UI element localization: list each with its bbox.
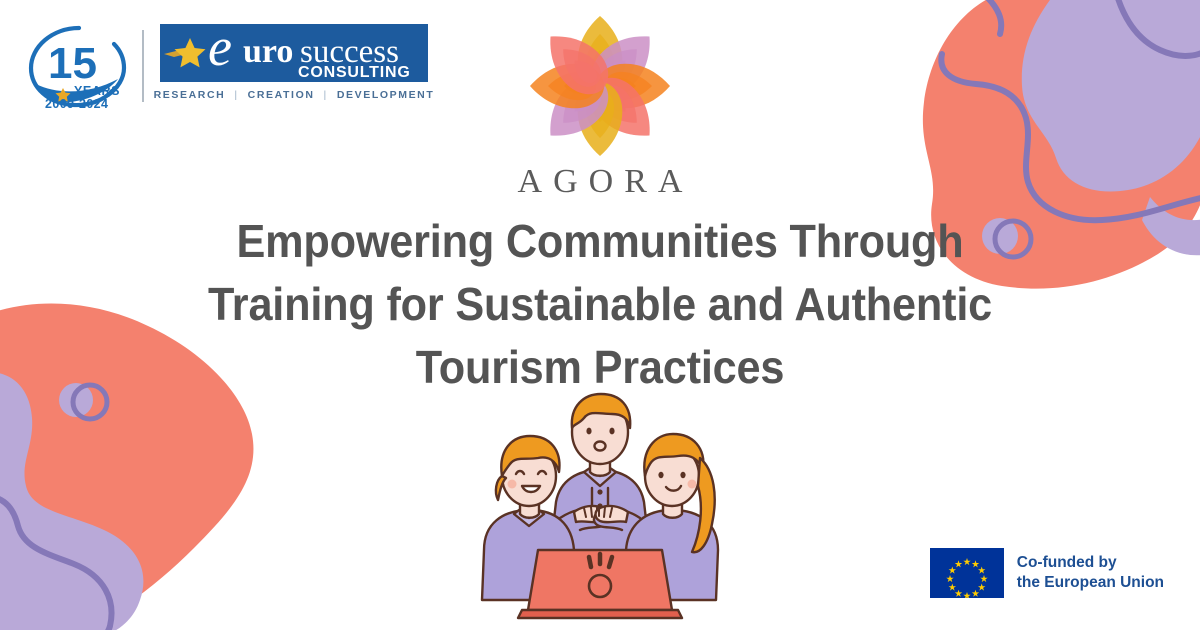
blob-lavender-shape bbox=[0, 372, 143, 630]
anniversary-logo: 15 YEARS 2009-2024 bbox=[18, 22, 136, 110]
decor-wavy-line bbox=[0, 496, 112, 630]
project-headline: Empowering Communities Through Training … bbox=[160, 210, 1040, 399]
eu-badge-text: Co-funded by the European Union bbox=[1017, 553, 1164, 594]
laptop-logo-stroke-3 bbox=[609, 557, 612, 567]
eu-badge-line-2: the European Union bbox=[1017, 573, 1164, 593]
tagline-development: DEVELOPMENT bbox=[337, 89, 435, 101]
eu-badge-line-1: Co-funded by bbox=[1017, 553, 1164, 573]
decor-line-curve bbox=[1116, 0, 1200, 56]
laptop bbox=[518, 550, 682, 618]
logo-subtitle: CONSULTING bbox=[298, 64, 411, 81]
decor-circle-filled bbox=[59, 383, 93, 417]
logo-script-e: e bbox=[208, 24, 232, 77]
tagline-creation: CREATION bbox=[248, 89, 315, 101]
headline-line-2: Training for Sustainable and Authentic bbox=[186, 273, 1013, 336]
anniversary-period: 2009-2024 bbox=[45, 97, 108, 110]
decor-circle-outline bbox=[73, 385, 107, 419]
anniversary-years-label: YEARS bbox=[74, 84, 120, 98]
logo-divider bbox=[142, 30, 144, 102]
tagline-separator-2: | bbox=[324, 89, 328, 101]
tagline-separator-1: | bbox=[234, 89, 238, 101]
co-funded-by-eu-badge: Co-funded by the European Union bbox=[930, 548, 1164, 598]
laptop-logo-stroke-1 bbox=[589, 557, 591, 567]
tagline-research: RESEARCH bbox=[154, 89, 226, 101]
agora-flower-mandala-logo bbox=[510, 14, 690, 164]
eurosuccess-logo: e uro success CONSULTING RESEARCH | CREA… bbox=[160, 24, 428, 108]
eurosuccess-blue-box: e uro success CONSULTING bbox=[160, 24, 428, 82]
banner-canvas: 15 YEARS 2009-2024 e bbox=[0, 0, 1200, 630]
decor-line-short bbox=[986, 0, 1001, 34]
eurosuccess-tagline: RESEARCH | CREATION | DEVELOPMENT bbox=[160, 89, 428, 101]
european-union-flag bbox=[930, 548, 1004, 598]
anniversary-number: 15 bbox=[48, 39, 97, 88]
blob-lavender-shape-2 bbox=[1142, 197, 1200, 255]
agora-wordmark: AGORA bbox=[0, 163, 1200, 201]
partner-logo-strip: 15 YEARS 2009-2024 e bbox=[18, 22, 428, 110]
headline-line-1: Empowering Communities Through bbox=[186, 210, 1013, 273]
logo-word-uro: uro bbox=[243, 33, 293, 70]
three-people-with-laptop-illustration bbox=[460, 384, 740, 624]
